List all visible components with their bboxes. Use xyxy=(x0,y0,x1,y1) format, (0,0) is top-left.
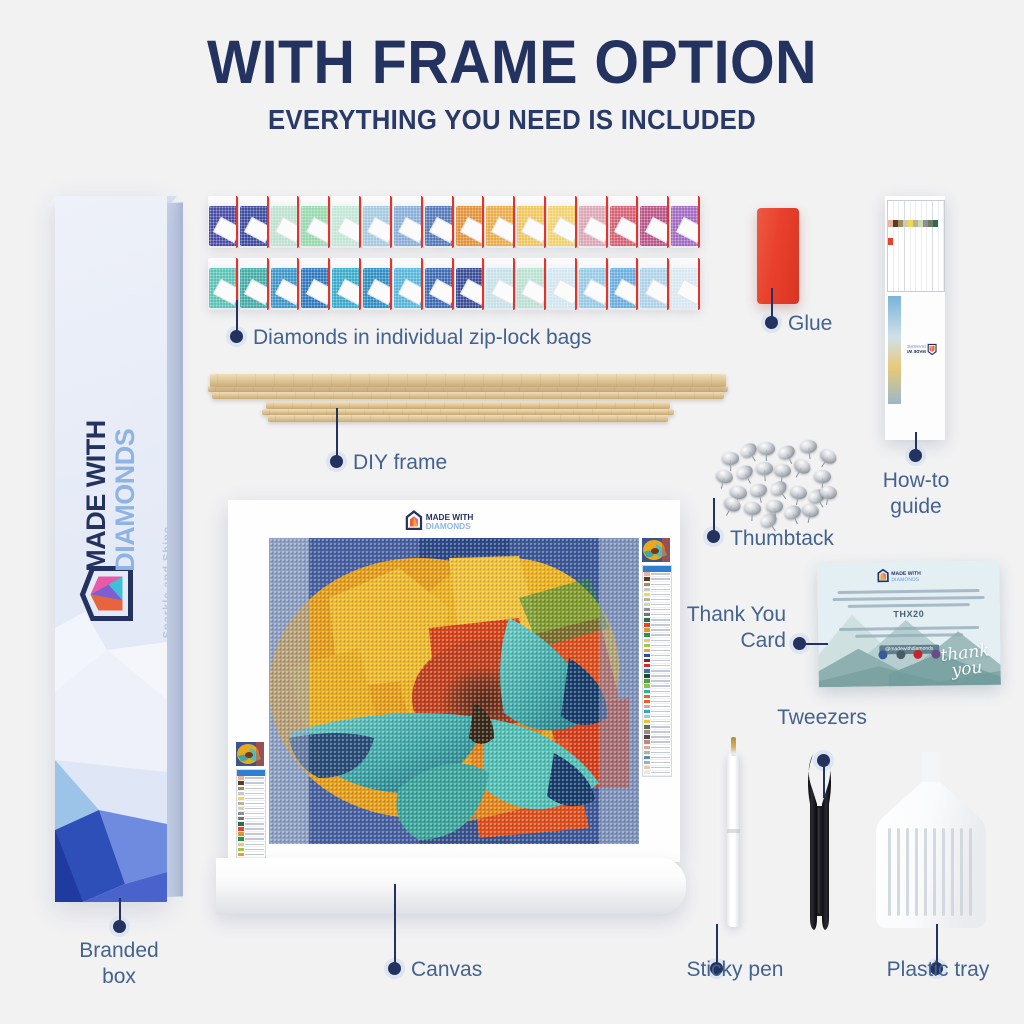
callout-label-frame: DIY frame xyxy=(353,450,533,476)
legend-code xyxy=(651,578,670,579)
legend-code xyxy=(651,716,670,717)
legend-swatch xyxy=(238,837,244,840)
ziplock-bag xyxy=(547,196,577,248)
legend-code xyxy=(245,823,264,824)
legend-swatch xyxy=(644,613,650,616)
legend-swatch xyxy=(644,623,650,626)
thumbtack-pin xyxy=(826,494,829,505)
frame-bar xyxy=(268,415,668,422)
ziplock-bag xyxy=(331,258,361,310)
thumbtack-pin xyxy=(807,512,811,523)
tiktok-icon xyxy=(931,650,940,659)
ziplock-bag xyxy=(609,258,639,310)
legend-code xyxy=(245,782,264,783)
legend-code xyxy=(245,828,264,829)
bag-zipper xyxy=(636,258,638,310)
legend-swatch xyxy=(644,761,650,764)
legend-code xyxy=(651,736,670,737)
canvas-product: MADE WITH DIAMONDS xyxy=(228,500,680,862)
bag-zipper xyxy=(636,196,638,248)
thumbtack-icon xyxy=(765,499,783,513)
legend-swatch xyxy=(238,817,244,820)
legend-swatch xyxy=(238,781,244,784)
legend-swatch xyxy=(644,674,650,677)
svg-text:DIAMONDS: DIAMONDS xyxy=(426,522,471,531)
bag-zipper xyxy=(482,258,484,310)
legend-swatch xyxy=(238,832,244,835)
legend-swatch xyxy=(644,644,650,647)
legend-code xyxy=(651,741,670,742)
ziplock-bag xyxy=(670,196,700,248)
svg-text:MADE WITH: MADE WITH xyxy=(891,571,921,577)
ziplock-bag xyxy=(424,258,454,310)
bag-zipper xyxy=(698,258,700,310)
legend-code xyxy=(651,706,670,707)
pen-grip-ring xyxy=(727,829,740,833)
canvas-brand-logo: MADE WITH DIAMONDS xyxy=(405,510,503,537)
legend-swatch xyxy=(644,735,650,738)
infographic-canvas: WITH FRAME OPTION EVERYTHING YOU NEED IS… xyxy=(0,0,1024,1024)
legend-code xyxy=(245,854,264,855)
guide-color-swatches xyxy=(888,214,942,221)
thumbtack-pin xyxy=(745,473,752,483)
howto-guide-product: MADE WITH DIAMONDS xyxy=(885,196,945,440)
thumbtack-icon xyxy=(773,463,791,477)
legend-code xyxy=(245,788,264,789)
legend-code xyxy=(651,726,670,727)
facebook-icon xyxy=(879,651,888,660)
callout-label-canvas: Canvas xyxy=(411,957,571,983)
thumbtack-icon xyxy=(758,442,775,455)
callout-line-bags xyxy=(236,300,238,334)
legend-code xyxy=(651,691,670,692)
guide-swatch xyxy=(888,238,893,245)
bag-zipper xyxy=(667,196,669,248)
legend-swatch xyxy=(644,588,650,591)
legend-code xyxy=(245,849,264,850)
thumbtack-pin xyxy=(821,457,828,467)
bag-zipper xyxy=(544,258,546,310)
thumbtack-pin xyxy=(808,448,811,459)
guide-brand-logo: MADE WITH DIAMONDS xyxy=(907,336,937,357)
legend-code xyxy=(245,798,264,799)
bag-zipper xyxy=(575,258,577,310)
thumbtack-icon xyxy=(749,482,768,498)
callout-label-howto-guide: How-to guide xyxy=(845,468,987,519)
legend-swatch xyxy=(238,853,244,856)
card-body-line2 xyxy=(833,596,985,601)
callout-label-tweezers: Tweezers xyxy=(742,705,902,731)
legend-code xyxy=(651,757,670,758)
bag-zipper xyxy=(359,196,361,248)
diamond-logo-icon xyxy=(79,563,139,625)
ziplock-bag xyxy=(670,258,700,310)
legend-swatch xyxy=(644,766,650,769)
legend-swatch xyxy=(644,664,650,667)
glue-product xyxy=(757,208,799,304)
ziplock-bag xyxy=(485,196,515,248)
ziplock-bag xyxy=(485,258,515,310)
legend-code xyxy=(651,619,670,620)
callout-line-tweezers xyxy=(823,760,825,798)
pen-tip xyxy=(731,737,736,756)
legend-code xyxy=(651,645,670,646)
canvas-thumbnail-left xyxy=(236,742,264,766)
legend-code xyxy=(651,584,670,585)
bag-row-top xyxy=(208,196,700,248)
ziplock-bag xyxy=(208,196,238,248)
bag-zipper xyxy=(513,258,515,310)
legend-code xyxy=(245,838,264,839)
ziplock-bag xyxy=(609,196,639,248)
thumbtack-icon xyxy=(722,452,739,465)
legend-code xyxy=(651,665,670,666)
legend-swatch xyxy=(644,700,650,703)
bag-zipper xyxy=(390,196,392,248)
callout-line-thankyou xyxy=(802,643,828,645)
legend-swatch xyxy=(644,628,650,631)
legend-code xyxy=(651,599,670,600)
ziplock-bag xyxy=(331,196,361,248)
box-tagline: Sparkle and Shine xyxy=(161,526,167,638)
legend-code xyxy=(651,660,670,661)
ziplock-bag xyxy=(362,196,392,248)
canvas-artwork xyxy=(269,538,639,844)
box-front-face: MADE WITH DIAMONDS Sparkle and Shine xyxy=(55,196,167,902)
legend-code xyxy=(651,772,670,773)
callout-label-thumbtack: Thumbtack xyxy=(730,526,930,552)
legend-code xyxy=(651,624,670,625)
legend-swatch xyxy=(644,690,650,693)
bag-zipper xyxy=(421,258,423,310)
legend-swatch xyxy=(238,848,244,851)
thumbtack-icon xyxy=(734,463,755,483)
legend-swatch xyxy=(644,695,650,698)
ziplock-bag xyxy=(393,196,423,248)
bag-zipper xyxy=(482,196,484,248)
guide-cover-photo xyxy=(888,296,901,404)
legend-code xyxy=(651,752,670,753)
thumbtack-icon xyxy=(789,485,808,500)
bag-zipper xyxy=(606,196,608,248)
legend-code xyxy=(651,762,670,763)
callout-line-thumbtack xyxy=(713,498,715,534)
thumbtack-icon xyxy=(801,502,820,518)
callout-label-sticky-pen: Sticky pen xyxy=(655,957,815,983)
thumbtack-pin xyxy=(720,478,724,489)
card-body-line1 xyxy=(838,589,980,594)
legend-swatch xyxy=(644,684,650,687)
legend-code xyxy=(651,701,670,702)
thumbtack-icon xyxy=(792,457,813,477)
bag-zipper xyxy=(297,258,299,310)
legend-swatch xyxy=(644,598,650,601)
thumbtack-pin xyxy=(726,505,733,515)
thumbtack-icon xyxy=(799,439,817,454)
card-body-line4 xyxy=(839,626,979,631)
bag-zipper xyxy=(544,196,546,248)
legend-code xyxy=(651,680,670,681)
legend-swatch xyxy=(644,654,650,657)
ziplock-bag xyxy=(639,196,669,248)
thumbtack-icon xyxy=(756,462,774,476)
legend-swatch xyxy=(238,843,244,846)
pen-body xyxy=(727,753,740,927)
ziplock-bag xyxy=(578,196,608,248)
thumbtack-pin xyxy=(817,497,824,507)
legend-row xyxy=(643,771,671,776)
bag-zipper xyxy=(575,196,577,248)
thumbtack-icon xyxy=(738,440,759,460)
legend-swatch xyxy=(238,827,244,830)
thumbtack-icon xyxy=(818,446,839,466)
legend-swatch xyxy=(644,746,650,749)
ziplock-bag xyxy=(393,258,423,310)
legend-code xyxy=(651,609,670,610)
tray-svg xyxy=(872,752,990,932)
legend-code xyxy=(651,767,670,768)
guide-swatch xyxy=(933,220,938,227)
bag-zipper xyxy=(267,258,269,310)
diamond-logo-icon: MADE WITH DIAMONDS xyxy=(405,510,503,532)
legend-swatch xyxy=(644,608,650,611)
legend-swatch xyxy=(644,756,650,759)
thumbtack-icon xyxy=(782,503,803,522)
legend-swatch xyxy=(238,812,244,815)
thumbtack-pin xyxy=(792,514,798,525)
legend-swatch xyxy=(644,572,650,575)
legend-swatch xyxy=(644,720,650,723)
legend-swatch xyxy=(238,787,244,790)
callout-line-box xyxy=(119,898,121,924)
legend-code xyxy=(651,573,670,574)
legend-swatch xyxy=(644,705,650,708)
ziplock-bag xyxy=(424,196,454,248)
page-subtitle: EVERYTHING YOU NEED IS INCLUDED xyxy=(41,106,983,134)
ziplock-bag xyxy=(578,258,608,310)
legend-code xyxy=(651,640,670,641)
pinterest-icon xyxy=(914,650,923,659)
legend-swatch xyxy=(644,577,650,580)
frame-bar xyxy=(210,374,726,387)
legend-code xyxy=(245,808,264,809)
legend-swatch xyxy=(644,583,650,586)
legend-swatch xyxy=(644,715,650,718)
bag-zipper xyxy=(606,258,608,310)
bag-zipper xyxy=(328,196,330,248)
thumbtack-pin xyxy=(749,451,756,461)
legend-code xyxy=(245,803,264,804)
callout-line-frame xyxy=(336,408,338,460)
thankyou-card-product: MADE WITH DIAMONDS THX20 @madewithdiamon… xyxy=(817,561,1001,688)
legend-code xyxy=(651,731,670,732)
legend-swatch xyxy=(644,649,650,652)
thumbtack-pin xyxy=(796,494,799,505)
callout-line-canvas xyxy=(394,884,396,966)
sticky-pen-product xyxy=(727,737,740,927)
canvas-color-legend-right xyxy=(642,565,672,777)
legend-code xyxy=(245,818,264,819)
thumbtack-icon xyxy=(776,443,797,462)
callout-line-glue xyxy=(771,288,773,320)
legend-code xyxy=(651,634,670,635)
card-script-line2: you xyxy=(950,657,983,681)
ziplock-bag xyxy=(300,258,330,310)
legend-swatch xyxy=(644,730,650,733)
legend-swatch xyxy=(644,603,650,606)
legend-code xyxy=(651,747,670,748)
bag-zipper xyxy=(328,258,330,310)
legend-swatch xyxy=(644,669,650,672)
bag-zipper xyxy=(359,258,361,310)
callout-line-guide xyxy=(915,432,917,454)
thumbtack-icon xyxy=(768,478,789,498)
thumbtack-pin xyxy=(795,467,802,477)
thumbtack-product xyxy=(716,440,846,530)
ziplock-bag xyxy=(270,196,300,248)
legend-code xyxy=(651,655,670,656)
ziplock-bag xyxy=(362,258,392,310)
bag-zipper xyxy=(390,258,392,310)
thumbnail-svg xyxy=(642,538,670,562)
legend-swatch xyxy=(644,633,650,636)
legend-code xyxy=(651,675,670,676)
frame-bar xyxy=(266,402,670,409)
legend-swatch xyxy=(644,593,650,596)
bag-zipper xyxy=(452,258,454,310)
callout-label-plastic-tray: Plastic tray xyxy=(858,957,1018,983)
ziplock-bag xyxy=(547,258,577,310)
thumbtack-icon xyxy=(814,470,831,483)
ziplock-bag xyxy=(516,196,546,248)
thumbtack-pin xyxy=(751,510,753,521)
canvas-color-legend-left xyxy=(236,769,266,869)
bag-zipper xyxy=(667,258,669,310)
legend-code xyxy=(651,629,670,630)
ziplock-bag xyxy=(639,258,669,310)
bag-zipper xyxy=(267,196,269,248)
legend-code xyxy=(245,777,264,778)
canvas-rolled-edge xyxy=(216,858,686,914)
box-brand-line1: MADE WITH xyxy=(81,420,111,571)
legend-swatch xyxy=(644,771,650,774)
diamond-logo-icon: MADE WITH DIAMONDS xyxy=(875,568,941,584)
legend-code xyxy=(651,721,670,722)
legend-swatch xyxy=(238,792,244,795)
callout-label-branded-box: Branded box xyxy=(35,938,203,989)
card-body-line3 xyxy=(848,603,970,608)
legend-swatch xyxy=(644,725,650,728)
legend-code xyxy=(651,650,670,651)
callout-label-bags: Diamonds in individual zip-lock bags xyxy=(253,325,683,351)
legend-swatch xyxy=(644,679,650,682)
legend-swatch xyxy=(644,751,650,754)
branded-box-product: MADE WITH DIAMONDS Sparkle and Shine xyxy=(55,196,183,902)
legend-swatch xyxy=(644,740,650,743)
legend-swatch xyxy=(238,807,244,810)
card-script-text: thank you xyxy=(940,643,993,680)
svg-text:MADE WITH: MADE WITH xyxy=(426,513,474,522)
ziplock-bag xyxy=(239,258,269,310)
legend-swatch xyxy=(644,659,650,662)
ziplock-bag xyxy=(455,196,485,248)
svg-text:MADE WITH: MADE WITH xyxy=(907,349,926,354)
ziplock-bag xyxy=(455,258,485,310)
legend-swatch xyxy=(238,776,244,779)
thumbtack-pin xyxy=(786,454,792,465)
legend-swatch xyxy=(644,639,650,642)
legend-code xyxy=(651,594,670,595)
bag-zipper xyxy=(698,196,700,248)
tweezers-svg xyxy=(800,748,840,932)
legend-code xyxy=(651,711,670,712)
bag-zipper xyxy=(236,196,238,248)
legend-code xyxy=(245,813,264,814)
ziplock-bag xyxy=(516,258,546,310)
bag-zipper xyxy=(513,196,515,248)
legend-code xyxy=(651,604,670,605)
bag-zipper xyxy=(297,196,299,248)
legend-swatch xyxy=(644,618,650,621)
box-brand-logo xyxy=(79,563,144,625)
tweezers-product xyxy=(800,748,840,932)
legend-code xyxy=(651,670,670,671)
legend-code xyxy=(245,844,264,845)
legend-code xyxy=(245,833,264,834)
box-side-face xyxy=(167,202,183,897)
canvas-thumbnail-right xyxy=(642,538,670,562)
svg-text:DIAMONDS: DIAMONDS xyxy=(891,577,919,583)
bag-zipper xyxy=(421,196,423,248)
ziplock-bag xyxy=(239,196,269,248)
thumbtack-pin xyxy=(758,492,762,503)
legend-swatch xyxy=(238,797,244,800)
thumbtack-pin xyxy=(730,460,732,471)
ziplock-bag xyxy=(270,258,300,310)
bag-row-bottom xyxy=(208,258,700,310)
svg-text:DIAMONDS: DIAMONDS xyxy=(907,344,926,349)
thumbtack-pin xyxy=(779,489,787,499)
page-title: WITH FRAME OPTION xyxy=(31,32,994,93)
legend-swatch xyxy=(238,822,244,825)
instagram-icon xyxy=(896,650,905,659)
thumbtack-pin xyxy=(765,450,767,461)
legend-code xyxy=(651,614,670,615)
thumbnail-svg xyxy=(236,742,264,766)
ziplock-bag xyxy=(300,196,330,248)
legend-code xyxy=(651,696,670,697)
artwork-svg xyxy=(269,538,639,844)
bag-zipper xyxy=(452,196,454,248)
diy-frame-product xyxy=(208,372,728,442)
box-brand-line2: DIAMONDS xyxy=(110,420,141,571)
frame-bar xyxy=(212,392,724,399)
thumbtack-pin xyxy=(764,470,766,481)
plastic-tray-product xyxy=(872,752,990,932)
diamond-bags-product xyxy=(208,196,700,312)
legend-swatch xyxy=(238,802,244,805)
legend-swatch xyxy=(644,710,650,713)
legend-code xyxy=(651,685,670,686)
legend-code xyxy=(245,793,264,794)
thumbtack-icon xyxy=(744,502,762,516)
box-brand-text: MADE WITH DIAMONDS xyxy=(81,420,141,571)
legend-code xyxy=(651,589,670,590)
ziplock-bag xyxy=(208,258,238,310)
diamond-logo-icon: MADE WITH DIAMONDS xyxy=(907,341,937,357)
